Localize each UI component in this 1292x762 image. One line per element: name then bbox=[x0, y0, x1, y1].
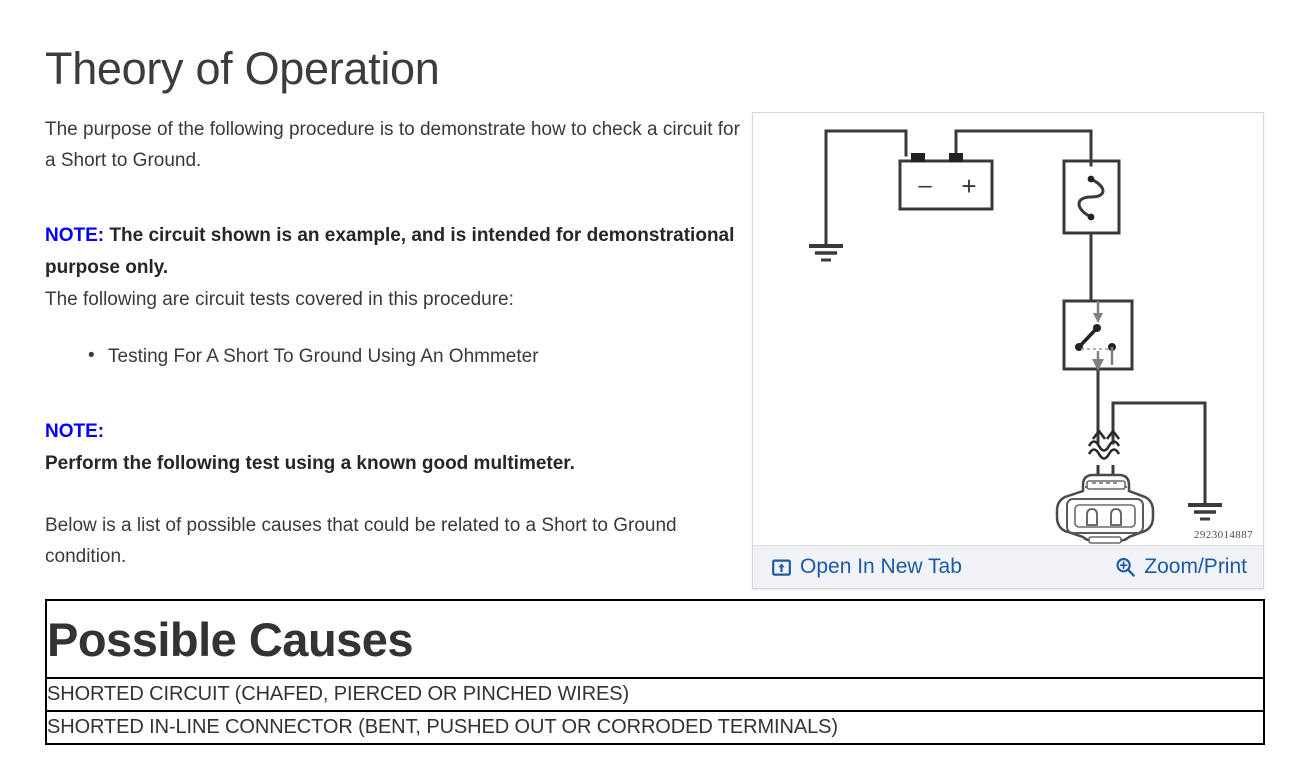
table-header-row: Possible Causes bbox=[46, 600, 1264, 678]
spacer bbox=[45, 315, 751, 341]
two-pin-connector bbox=[1057, 465, 1153, 543]
battery-body bbox=[900, 161, 992, 209]
battery-positive-post bbox=[949, 153, 963, 162]
open-in-new-tab-icon bbox=[771, 557, 792, 578]
connector-pin-2 bbox=[1111, 509, 1121, 525]
figure-id-number: 2923014887 bbox=[1194, 529, 1253, 541]
battery-negative-post bbox=[911, 153, 925, 162]
open-in-new-tab-label: Open In New Tab bbox=[800, 555, 962, 579]
note-label: NOTE: bbox=[45, 225, 104, 246]
spacer bbox=[45, 480, 751, 510]
ground-symbol-left bbox=[809, 246, 843, 260]
circuit-tests-list: Testing For A Short To Ground Using An O… bbox=[45, 341, 751, 372]
intro-paragraph: The purpose of the following procedure i… bbox=[45, 114, 751, 176]
cause-text: SHORTED IN-LINE CONNECTOR (BENT, PUSHED … bbox=[46, 711, 1264, 744]
wire-break-marks bbox=[1089, 431, 1119, 459]
table-row: SHORTED CIRCUIT (CHAFED, PIERCED OR PINC… bbox=[46, 678, 1264, 711]
zoom-print-button[interactable]: Zoom/Print bbox=[1115, 555, 1247, 579]
ground-symbol-right bbox=[1188, 505, 1222, 519]
battery-negative-label: – bbox=[918, 172, 932, 199]
note-label: NOTE: bbox=[45, 416, 751, 448]
note-text: The circuit shown is an example, and is … bbox=[45, 225, 734, 278]
zoom-print-label: Zoom/Print bbox=[1144, 555, 1247, 579]
fuse-element bbox=[1079, 176, 1103, 221]
article-body: The purpose of the following procedure i… bbox=[45, 114, 751, 572]
note-block-2: NOTE: Perform the following test using a… bbox=[45, 416, 751, 480]
spacer bbox=[45, 372, 751, 416]
closing-paragraph: Below is a list of possible causes that … bbox=[45, 510, 751, 572]
cause-text: SHORTED CIRCUIT (CHAFED, PIERCED OR PINC… bbox=[46, 678, 1264, 711]
magnifier-plus-icon bbox=[1115, 557, 1136, 578]
circuit-diagram-image[interactable]: – + bbox=[753, 113, 1263, 545]
table-header-cell: Possible Causes bbox=[46, 600, 1264, 678]
connector-pin-1 bbox=[1087, 509, 1097, 525]
possible-causes-table: Possible Causes SHORTED CIRCUIT (CHAFED,… bbox=[45, 599, 1265, 745]
open-in-new-tab-button[interactable]: Open In New Tab bbox=[771, 555, 962, 579]
note-text: Perform the following test using a known… bbox=[45, 448, 751, 480]
list-item: Testing For A Short To Ground Using An O… bbox=[108, 341, 751, 372]
tests-intro-paragraph: The following are circuit tests covered … bbox=[45, 284, 751, 315]
switch-contact-open bbox=[1075, 343, 1083, 351]
page-title: Theory of Operation bbox=[45, 43, 440, 95]
figure-panel: – + bbox=[752, 112, 1264, 589]
arrow-head-in bbox=[1093, 313, 1103, 323]
note-block-1: NOTE: The circuit shown is an example, a… bbox=[45, 220, 751, 284]
table-row: SHORTED IN-LINE CONNECTOR (BENT, PUSHED … bbox=[46, 711, 1264, 744]
figure-toolbar: Open In New Tab Zoom/Print bbox=[753, 545, 1263, 588]
possible-causes-heading: Possible Causes bbox=[47, 616, 1263, 663]
switch-element bbox=[1075, 301, 1116, 371]
spacer bbox=[45, 176, 751, 220]
battery-positive-label: + bbox=[961, 171, 976, 201]
circuit-diagram-svg: – + bbox=[753, 113, 1263, 545]
